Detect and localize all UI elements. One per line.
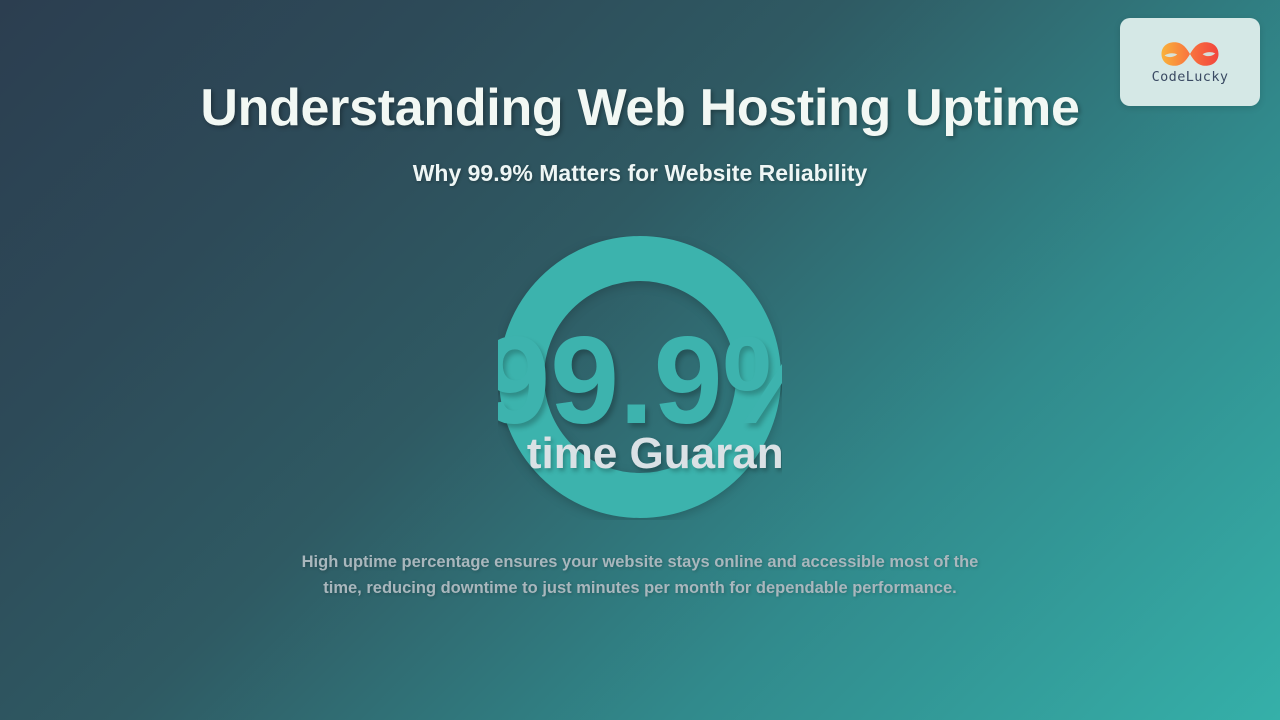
slide-description: High uptime percentage ensures your webs… [290, 550, 990, 601]
gauge-value: 99.9% [498, 324, 782, 438]
infinity-icon [1159, 39, 1221, 69]
uptime-gauge: 99.9% time Guarantee [498, 236, 782, 520]
slide-title: Understanding Web Hosting Uptime [0, 78, 1280, 138]
gauge-content: 99.9% time Guarantee [498, 236, 782, 520]
slide-subtitle: Why 99.9% Matters for Website Reliabilit… [0, 160, 1280, 187]
gauge-label: time Guarantee [527, 432, 782, 476]
slide-canvas: CodeLucky Understanding Web Hosting Upti… [0, 0, 1280, 720]
